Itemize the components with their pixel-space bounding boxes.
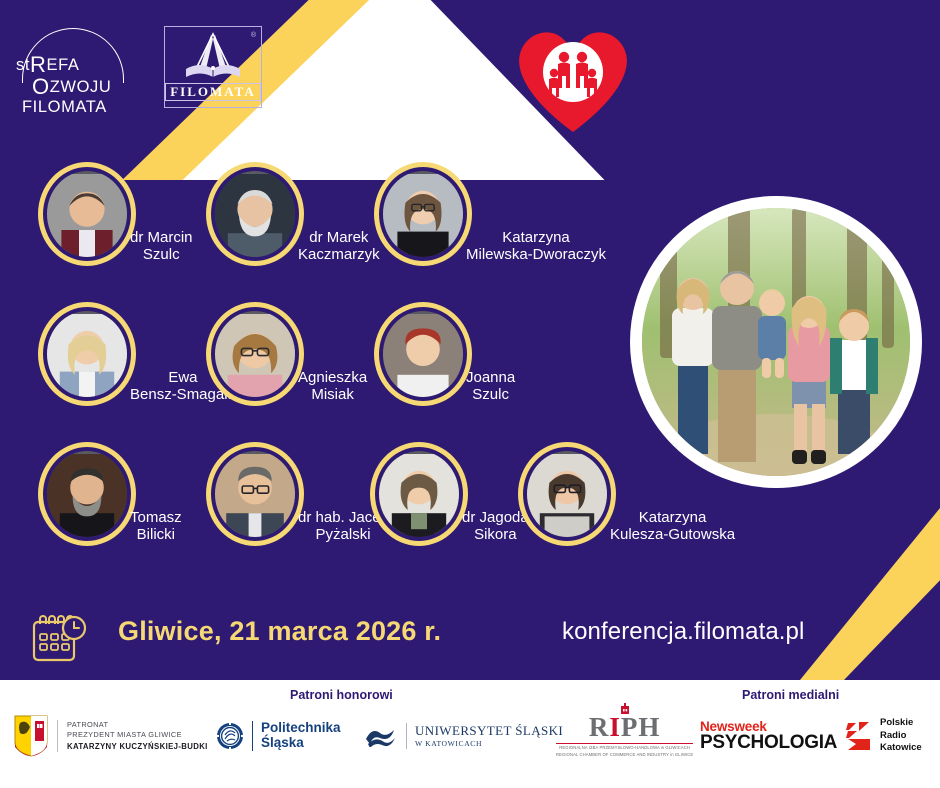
speaker-name: Agnieszka Misiak <box>298 369 367 406</box>
portrait-marek-kaczmarzyk <box>215 171 295 257</box>
politechnika-line-2: Śląska <box>261 736 341 751</box>
conference-subtitle: JESTEM RODZICEM - WYBIERAM EMPATIĘ <box>556 102 926 164</box>
speakers-row-2: Ewa Bensz-Smagała Agnieszka Misiak <box>0 302 760 442</box>
speaker-name-line-2: Kulesza-Gutowska <box>610 526 735 544</box>
speaker-name-line-1: Katarzyna <box>466 229 606 247</box>
speaker-avatar-frame <box>518 442 616 546</box>
registered-mark-icon: ® <box>251 32 256 39</box>
riph-sub-en: REGIONAL CHAMBER OF COMMERCE AND INDUSTR… <box>556 752 693 758</box>
polskie-radio-text: Polskie Radio Katowice <box>880 717 922 755</box>
speaker-avatar-frame <box>38 302 136 406</box>
speaker-name-line-1: dr Marcin <box>130 229 193 247</box>
speaker-name-line-2: Milewska-Dworaczyk <box>466 246 606 264</box>
speaker-name: Joanna Szulc <box>466 369 515 406</box>
event-website[interactable]: konferencja.filomata.pl <box>562 618 804 646</box>
portrait-joanna-szulc <box>383 311 463 397</box>
portrait-ewa-bensz-smagala <box>47 311 127 397</box>
speaker-avatar-frame <box>38 162 136 266</box>
gliwice-crest-icon <box>14 715 48 757</box>
strefa-r: R <box>30 52 47 77</box>
info-bar: Gliwice, 21 marca 2026 r. konferencja.fi… <box>0 594 940 680</box>
speaker-avatar-frame <box>206 442 304 546</box>
riph-subtitle: REGIONALNA IZBA PRZEMYSŁOWO-HANDLOWA w G… <box>556 743 693 758</box>
patronage-line-2: PREZYDENT MIASTA GLIWICE <box>67 730 208 741</box>
speakers-row-3: Tomasz Bilicki dr hab. Jacek Pyżalski <box>0 442 760 582</box>
uniwersytet-line-2: W KATOWICACH <box>415 739 563 748</box>
politechnika-slaska-icon <box>216 722 244 750</box>
partner-newsweek-psychologia[interactable]: Newsweek PSYCHOLOGIA <box>700 710 837 762</box>
speaker-name: dr Marcin Szulc <box>130 229 193 266</box>
polskie-radio-line-2: Radio <box>880 730 922 743</box>
speaker-card-tomasz-bilicki[interactable]: Tomasz Bilicki <box>38 442 182 546</box>
portrait-jacek-pyzalski <box>215 451 295 537</box>
speaker-card-katarzyna-kulesza-gutowska[interactable]: Katarzyna Kulesza-Gutowska <box>518 442 735 546</box>
speaker-card-jacek-pyzalski[interactable]: dr hab. Jacek Pyżalski <box>206 442 388 546</box>
partner-uniwersytet-slaski[interactable]: UNIWERSYTET ŚLĄSKI W KATOWICACH <box>364 710 563 762</box>
speaker-name-line-2: Szulc <box>466 386 515 404</box>
speaker-card-jagoda-sikora[interactable]: dr Jagoda Sikora <box>370 442 529 546</box>
partner-riph[interactable]: RIPH REGIONALNA IZBA PRZEMYSŁOWO-HANDLOW… <box>556 710 693 762</box>
filomata-wordmark: FILOMATA <box>165 83 261 101</box>
event-date: Gliwice, 21 marca 2026 r. <box>118 616 441 647</box>
strefa-st: st <box>16 56 30 74</box>
speaker-name: dr Marek Kaczmarzyk <box>298 229 380 266</box>
newsweek-line-1: Newsweek <box>700 720 837 734</box>
speaker-avatar-frame <box>374 162 472 266</box>
riph-r: R <box>589 712 610 742</box>
speakers-grid: dr Marcin Szulc dr Marek Kaczmarzyk <box>0 162 760 582</box>
speaker-name: Katarzyna Milewska-Dworaczyk <box>466 229 606 266</box>
politechnika-slaska-text: Politechnika Śląska <box>252 721 341 751</box>
subtitle-line-1: JESTEM RODZICEM <box>556 102 926 133</box>
partner-politechnika-slaska[interactable]: Politechnika Śląska <box>216 710 341 762</box>
speaker-name-line-1: dr Marek <box>298 229 380 247</box>
speaker-name-line-1: Agnieszka <box>298 369 367 387</box>
strefa-line-3: FILOMATA <box>16 99 128 116</box>
portrait-marcin-szulc <box>47 171 127 257</box>
strefa-zwoju: ZWOJU <box>50 78 112 96</box>
patronage-line-3: KATARZYNY KUCZYŃSKIEJ-BUDKI <box>67 741 208 752</box>
title-line-1: IV Ogólnopolska <box>556 24 926 54</box>
speaker-name-line-1: Katarzyna <box>610 509 735 527</box>
polskie-radio-katowice-icon <box>846 721 872 751</box>
riph-crown-icon <box>619 703 631 715</box>
speaker-card-joanna-szulc[interactable]: Joanna Szulc <box>374 302 515 406</box>
gliwice-patronage-text: PATRONAT PREZYDENT MIASTA GLIWICE KATARZ… <box>57 720 208 753</box>
speaker-name-line-2: Bilicki <box>130 526 182 544</box>
uniwersytet-slaski-text: UNIWERSYTET ŚLĄSKI W KATOWICACH <box>406 723 563 749</box>
uniwersytet-slaski-icon <box>364 725 398 747</box>
honorary-patrons-heading: Patroni honorowi <box>290 688 393 702</box>
riph-ph: PH <box>621 712 661 742</box>
subtitle-line-2: - WYBIERAM EMPATIĘ <box>556 133 926 164</box>
strefa-efa: EFA <box>47 56 80 74</box>
riph-i: I <box>609 712 621 742</box>
uniwersytet-line-1: UNIWERSYTET ŚLĄSKI <box>415 723 563 739</box>
speakers-row-1: dr Marcin Szulc dr Marek Kaczmarzyk <box>0 162 760 302</box>
strefa-wordmark: stREFA OZWOJU FILOMATA <box>16 54 128 116</box>
speaker-avatar-frame <box>38 442 136 546</box>
filomata-logo[interactable]: ® FILOMATA <box>164 26 262 108</box>
newsweek-psychologia-icon: Newsweek PSYCHOLOGIA <box>700 720 837 753</box>
riph-wordmark: RIPH <box>556 714 693 741</box>
portrait-katarzyna-kulesza-gutowska <box>527 451 607 537</box>
strefa-line-1: stREFA <box>16 54 128 76</box>
speaker-card-katarzyna-milewska-dworaczyk[interactable]: Katarzyna Milewska-Dworaczyk <box>374 162 606 266</box>
polskie-radio-line-3: Katowice <box>880 742 922 755</box>
media-patrons-heading: Patroni medialni <box>742 688 839 702</box>
title-line-2: Konferencja <box>556 54 926 84</box>
speaker-avatar-frame <box>370 442 468 546</box>
speaker-avatar-frame <box>206 162 304 266</box>
patronage-line-1: PATRONAT <box>67 720 208 731</box>
portrait-agnieszka-misiak <box>215 311 295 397</box>
riph-sub-pl: REGIONALNA IZBA PRZEMYSŁOWO-HANDLOWA w G… <box>556 745 693 751</box>
partner-gliwice-patronage[interactable]: PATRONAT PREZYDENT MIASTA GLIWICE KATARZ… <box>14 710 208 762</box>
brand-logos: stREFA OZWOJU FILOMATA ® FILOMATA <box>16 26 262 108</box>
strefa-line-2: OZWOJU <box>16 76 128 98</box>
portrait-tomasz-bilicki <box>47 451 127 537</box>
speaker-name: Katarzyna Kulesza-Gutowska <box>610 509 735 546</box>
polskie-radio-line-1: Polskie <box>880 717 922 730</box>
speaker-name-line-1: Tomasz <box>130 509 182 527</box>
filomata-book-icon <box>182 31 244 81</box>
speaker-name-line-1: Joanna <box>466 369 515 387</box>
speaker-name: Tomasz Bilicki <box>130 509 182 546</box>
speaker-card-agnieszka-misiak[interactable]: Agnieszka Misiak <box>206 302 367 406</box>
footer-partners: Patroni honorowi Patroni medialni PATRON… <box>0 680 940 788</box>
conference-title-block: IV Ogólnopolska Konferencja JESTEM RODZI… <box>556 24 926 164</box>
speaker-name-line-2: Misiak <box>298 386 367 404</box>
partner-polskie-radio-katowice[interactable]: Polskie Radio Katowice <box>846 710 922 762</box>
speaker-name-line-2: Szulc <box>130 246 193 264</box>
riph-logo: RIPH REGIONALNA IZBA PRZEMYSŁOWO-HANDLOW… <box>556 714 693 758</box>
calendar-clock-icon <box>30 612 88 664</box>
partner-logo-row: PATRONAT PREZYDENT MIASTA GLIWICE KATARZ… <box>0 710 940 762</box>
speaker-card-marcin-szulc[interactable]: dr Marcin Szulc <box>38 162 193 266</box>
speaker-name-line-2: Kaczmarzyk <box>298 246 380 264</box>
page-title: IV Ogólnopolska Konferencja <box>556 24 926 84</box>
strefa-o: O <box>32 74 50 99</box>
speaker-card-marek-kaczmarzyk[interactable]: dr Marek Kaczmarzyk <box>206 162 380 266</box>
conference-poster: stREFA OZWOJU FILOMATA ® FILOMATA <box>0 0 940 788</box>
newsweek-line-2: PSYCHOLOGIA <box>700 733 837 752</box>
speaker-avatar-frame <box>374 302 472 406</box>
portrait-katarzyna-milewska-dworaczyk <box>383 171 463 257</box>
speaker-avatar-frame <box>206 302 304 406</box>
portrait-jagoda-sikora <box>379 451 459 537</box>
strefa-rozwoju-filomata-logo[interactable]: stREFA OZWOJU FILOMATA <box>16 26 128 106</box>
politechnika-line-1: Politechnika <box>261 721 341 736</box>
